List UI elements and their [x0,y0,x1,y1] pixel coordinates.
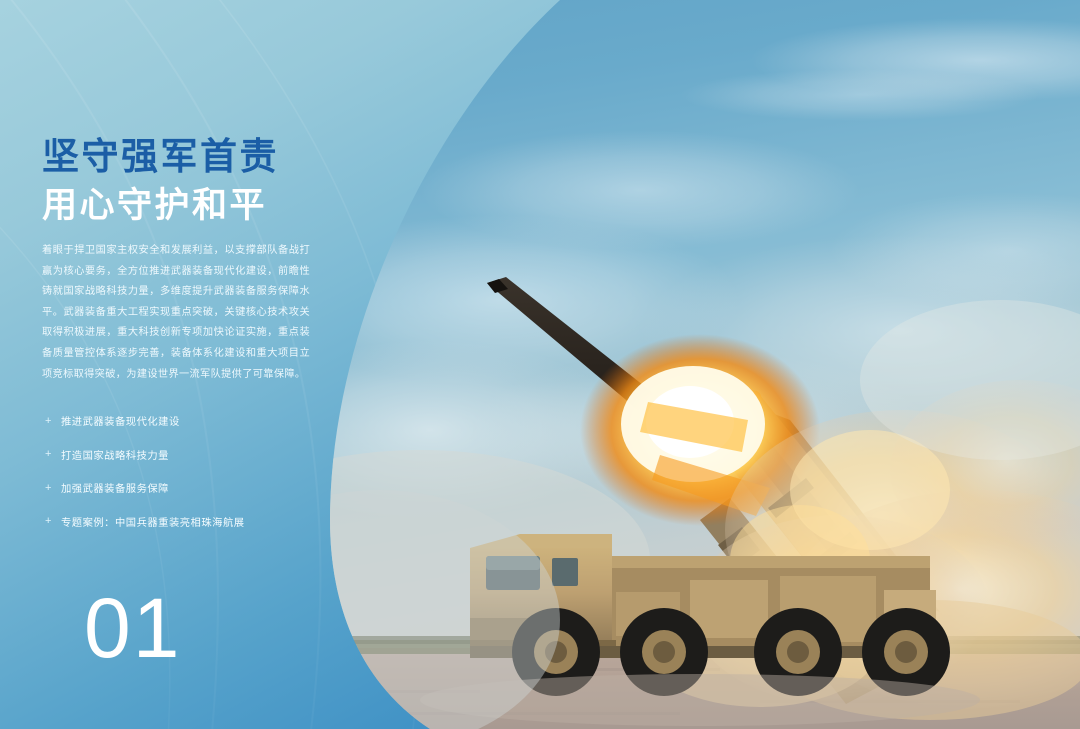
list-item[interactable]: + 推进武器装备现代化建设 [45,408,335,433]
body-paragraph: 着眼于捍卫国家主权安全和发展利益，以支撑部队备战打赢为核心要务，全方位推进武器装… [42,241,310,385]
launcher-tubes [700,386,940,704]
list-item[interactable]: + 加强武器装备服务保障 [45,475,335,500]
list-item-label: 推进武器装备现代化建设 [61,413,180,428]
plus-icon: + [45,415,61,427]
slide-root: 坚守强军首责 用心守护和平 着眼于捍卫国家主权安全和发展利益，以支撑部队备战打赢… [0,0,1080,729]
list-item[interactable]: + 专题案例：中国兵器重装亮相珠海航展 [45,509,335,534]
title-line-2: 用心守护和平 [42,183,342,229]
page-number: 01 [84,586,181,670]
text-column: 坚守强军首责 用心守护和平 着眼于捍卫国家主权安全和发展利益，以支撑部队备战打赢… [42,0,342,729]
list-item-label: 专题案例：中国兵器重装亮相珠海航展 [61,514,245,529]
launch-vehicle [420,534,980,726]
smoke-cloud [640,300,1080,720]
title-line-1: 坚守强军首责 [42,133,342,180]
list-item[interactable]: + 打造国家战略科技力量 [45,442,335,467]
plus-icon: + [45,515,61,527]
list-item-label: 打造国家战略科技力量 [61,447,169,462]
page-title: 坚守强军首责 用心守护和平 [42,133,342,229]
wheels [512,608,950,696]
plus-icon: + [45,482,61,494]
rocket-in-flight [487,277,700,452]
muzzle-flash [580,334,820,526]
list-item-label: 加强武器装备服务保障 [61,480,169,495]
plus-icon: + [45,448,61,460]
bullet-list: + 推进武器装备现代化建设 + 打造国家战略科技力量 + 加强武器装备服务保障 … [45,408,335,542]
